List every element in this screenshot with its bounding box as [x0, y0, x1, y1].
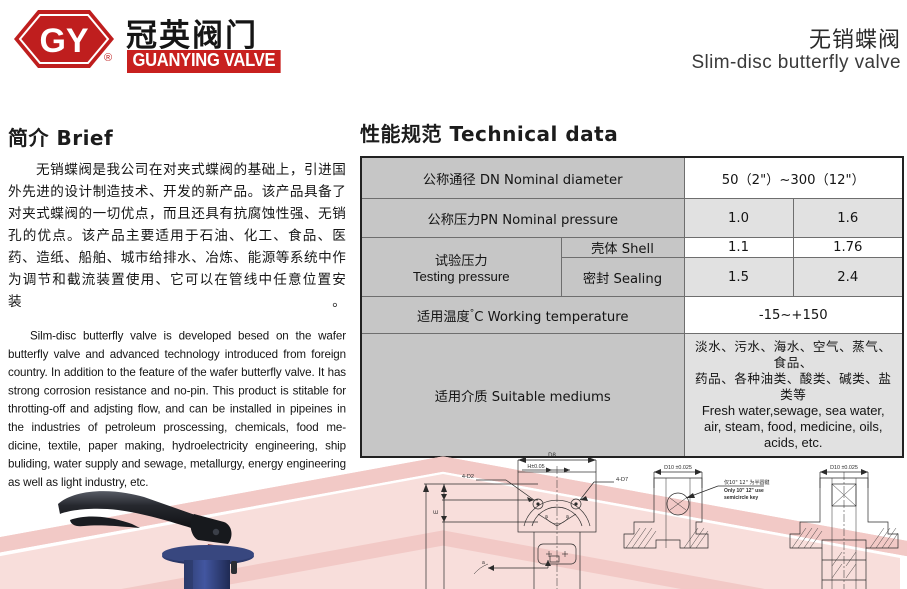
page-header: GY ® 冠英阀门 GUANYING VALVE 无销蝶阀 Slim-disc … [0, 0, 907, 88]
specification-table: 公称通径 DN Nominal diameter 50（2"）~300（12"）… [360, 156, 904, 458]
svg-text:semicircle key: semicircle key [724, 495, 758, 501]
technical-data-heading: 性能规范 Technical data [360, 118, 902, 147]
brief-heading: 简介 Brief [8, 122, 346, 151]
testing-pressure-label-en: Testing pressure [366, 269, 557, 284]
row-sublabel-sealing: 密封 Sealing [561, 258, 684, 297]
table-row-testing-pressure-shell: 试验压力 Testing pressure 壳体 Shell 1.1 1.76 [361, 238, 903, 258]
brief-section: 简介 Brief 无销蝶阀是我公司在对夹式蝶阀的基础上，引进国外先进的设计制造技… [8, 122, 346, 485]
brief-paragraph-cn: 无销蝶阀是我公司在对夹式蝶阀的基础上，引进国外先进的设计制造技术、开发的新产品。… [8, 159, 346, 313]
mediums-en-line-1: Fresh water,sewage, sea water, [691, 403, 897, 419]
brand-name-en: GUANYING VALVE [127, 50, 281, 73]
row-value-sealing-pn10: 1.5 [684, 258, 793, 297]
row-value-shell-pn10: 1.1 [684, 238, 793, 258]
row-label-suitable-mediums: 适用介质 Suitable mediums [361, 334, 684, 458]
testing-pressure-label-cn: 试验压力 [366, 250, 557, 269]
svg-text:Only 10" 12" use: Only 10" 12" use [724, 488, 764, 494]
product-title-en: Slim-disc butterfly valve [691, 52, 901, 74]
row-value-nominal-pressure-pn16: 1.6 [793, 199, 903, 238]
table-row-nominal-pressure: 公称压力PN Nominal pressure 1.0 1.6 [361, 199, 903, 238]
svg-text:GY: GY [39, 22, 88, 60]
mediums-cn-line-2: 药品、各种油类、酸类、碱类、盐类等 [691, 371, 897, 403]
svg-text:a: a [545, 514, 548, 520]
product-title-cn: 无销蝶阀 [809, 22, 901, 54]
row-label-nominal-diameter: 公称通径 DN Nominal diameter [361, 157, 684, 199]
row-label-working-temperature: 适用温度°C Working temperature [361, 297, 684, 334]
table-row-nominal-diameter: 公称通径 DN Nominal diameter 50（2"）~300（12"） [361, 157, 903, 199]
svg-text:仅10" 12" 为半圆键: 仅10" 12" 为半圆键 [724, 479, 770, 486]
table-row-working-temperature: 适用温度°C Working temperature -15~+150 [361, 297, 903, 334]
cad-technical-drawing: E D8 H±0.05 [418, 448, 907, 589]
table-row-suitable-mediums: 适用介质 Suitable mediums 淡水、污水、海水、空气、蒸气、食品、… [361, 334, 903, 458]
svg-text:H±0.05: H±0.05 [527, 464, 544, 470]
row-value-sealing-pn16: 2.4 [793, 258, 903, 297]
working-temp-label-pre: 适用温度 [417, 310, 470, 325]
svg-text:D8: D8 [548, 453, 556, 459]
row-value-shell-pn16: 1.76 [793, 238, 903, 258]
svg-text:E: E [434, 510, 440, 514]
row-value-suitable-mediums: 淡水、污水、海水、空气、蒸气、食品、 药品、各种油类、酸类、碱类、盐类等 Fre… [684, 334, 903, 458]
row-sublabel-shell: 壳体 Shell [561, 238, 684, 258]
technical-data-section: 性能规范 Technical data 公称通径 DN Nominal diam… [360, 118, 902, 458]
valve-product-photo [48, 464, 298, 589]
mediums-cn-line-1: 淡水、污水、海水、空气、蒸气、食品、 [691, 339, 897, 371]
gy-hexagon-logo-icon: GY [12, 8, 116, 70]
svg-text:4-D2: 4-D2 [462, 474, 474, 480]
registered-trademark-icon: ® [104, 53, 112, 64]
row-label-testing-pressure: 试验压力 Testing pressure [361, 238, 561, 297]
company-logo: GY ® 冠英阀门 GUANYING VALVE [12, 6, 312, 76]
svg-text:4-D7: 4-D7 [616, 477, 628, 483]
svg-text:a: a [566, 514, 569, 520]
row-value-working-temperature: -15~+150 [684, 297, 903, 334]
row-label-nominal-pressure: 公称压力PN Nominal pressure [361, 199, 684, 238]
row-value-nominal-pressure-pn10: 1.0 [684, 199, 793, 238]
bottom-artwork: E D8 H±0.05 [0, 440, 907, 589]
svg-text:a: a [482, 560, 485, 566]
svg-text:D10 ±0.025: D10 ±0.025 [830, 465, 858, 471]
svg-text:D10 ±0.025: D10 ±0.025 [664, 465, 692, 471]
brand-name-cn: 冠英阀门 [126, 10, 258, 55]
row-value-nominal-diameter: 50（2"）~300（12"） [684, 157, 903, 199]
working-temp-label-post: C Working temperature [474, 310, 628, 325]
